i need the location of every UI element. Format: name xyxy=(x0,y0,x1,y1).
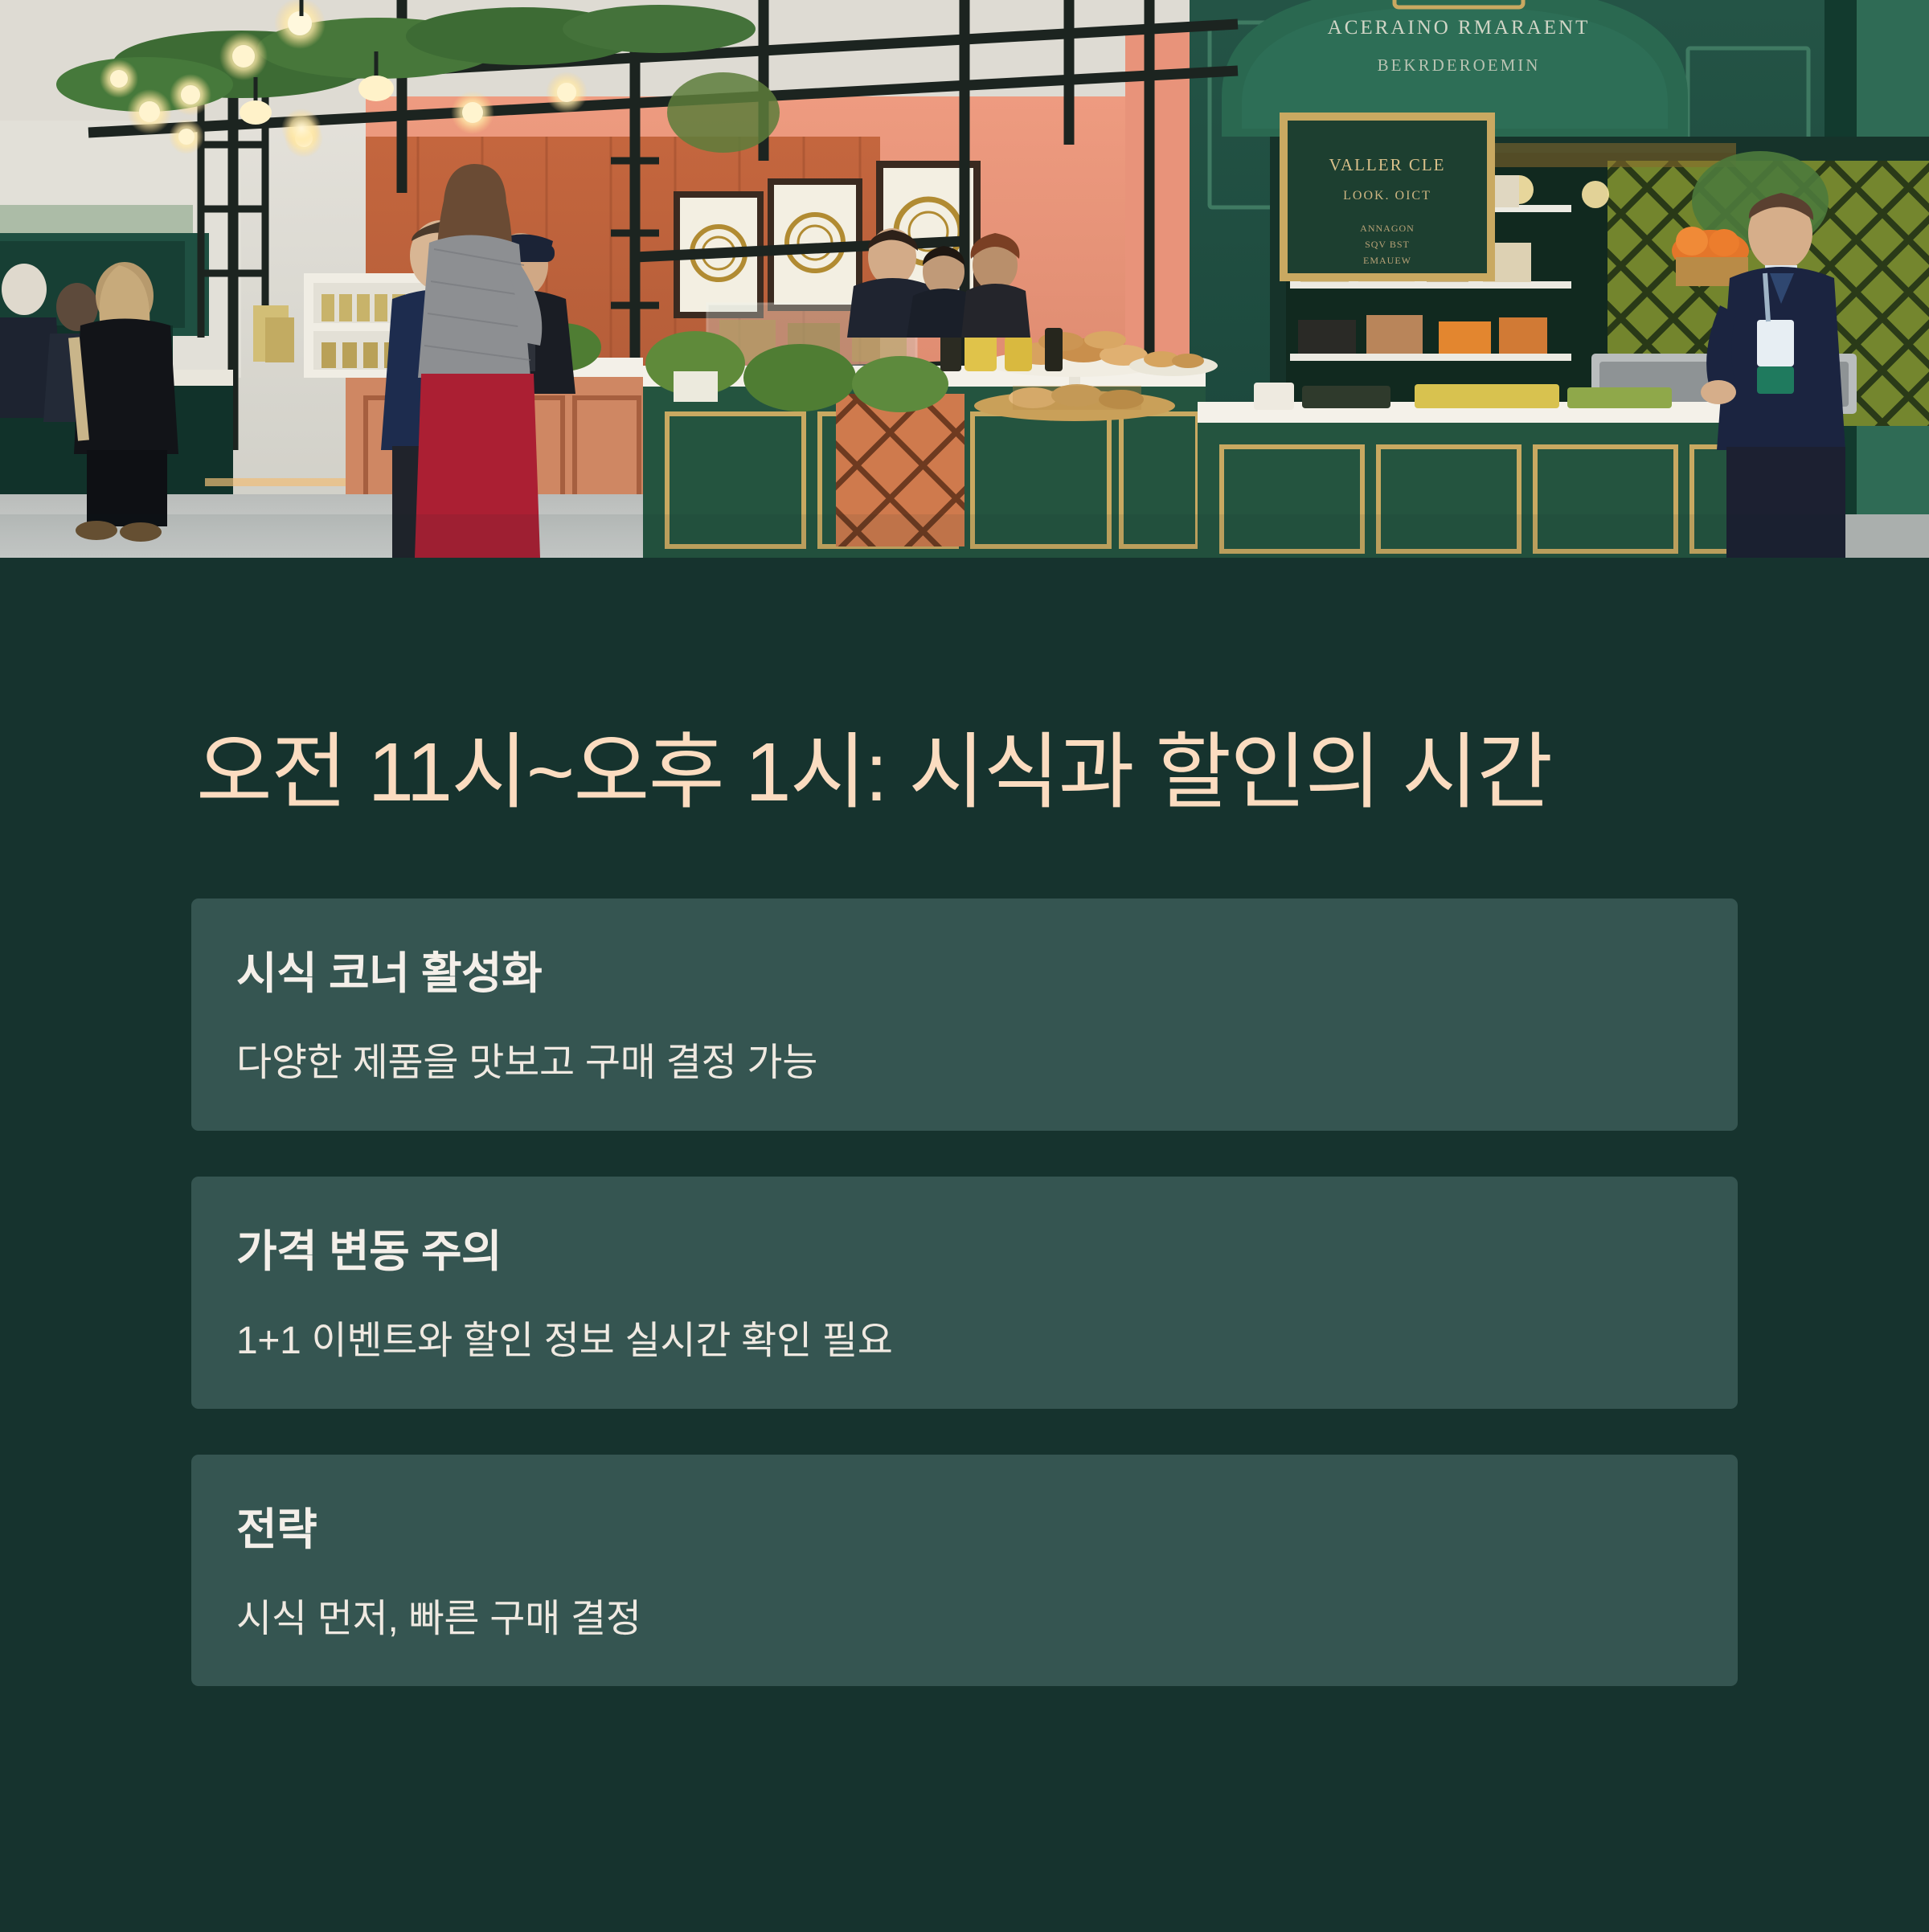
booth-sign-line-2: BEKRDEROEMIN xyxy=(1378,55,1541,75)
page-title: 오전 11시~오후 1시: 시식과 할인의 시간 xyxy=(196,722,1771,823)
booth-illustration: ACERAINO RMARAENT BEKRDEROEMIN xyxy=(0,0,1929,558)
hero-image: ACERAINO RMARAENT BEKRDEROEMIN xyxy=(0,0,1929,558)
framed-wall-sign: VALLER CLE LOOK. OICT ANNAGON SQV BST EM… xyxy=(1280,113,1495,281)
slide-root: ACERAINO RMARAENT BEKRDEROEMIN xyxy=(0,0,1929,1932)
info-card-body: 다양한 제품을 맛보고 구매 결정 가능 xyxy=(236,1038,1693,1088)
svg-text:ANNAGON: ANNAGON xyxy=(1360,223,1415,234)
svg-text:EMAUEW: EMAUEW xyxy=(1363,255,1411,266)
info-card-body: 1+1 이벤트와 할인 정보 실시간 확인 필요 xyxy=(236,1316,1693,1366)
svg-text:LOOK. OICT: LOOK. OICT xyxy=(1343,189,1431,203)
info-card: 가격 변동 주의 1+1 이벤트와 할인 정보 실시간 확인 필요 xyxy=(191,1177,1738,1409)
info-card-heading: 전략 xyxy=(236,1501,1693,1557)
info-card-body: 시식 먼저, 빠른 구매 결정 xyxy=(236,1594,1693,1644)
svg-text:VALLER CLE: VALLER CLE xyxy=(1329,155,1445,174)
booth-sign-line-1: ACERAINO RMARAENT xyxy=(1328,17,1591,39)
info-card: 전략 시식 먼저, 빠른 구매 결정 xyxy=(191,1455,1738,1687)
info-card: 시식 코너 활성화 다양한 제품을 맛보고 구매 결정 가능 xyxy=(191,898,1738,1131)
svg-text:SQV BST: SQV BST xyxy=(1365,239,1410,250)
info-card-heading: 가격 변동 주의 xyxy=(236,1223,1693,1279)
info-card-list: 시식 코너 활성화 다양한 제품을 맛보고 구매 결정 가능 가격 변동 주의 … xyxy=(191,898,1738,1686)
info-card-heading: 시식 코너 활성화 xyxy=(236,945,1693,1001)
